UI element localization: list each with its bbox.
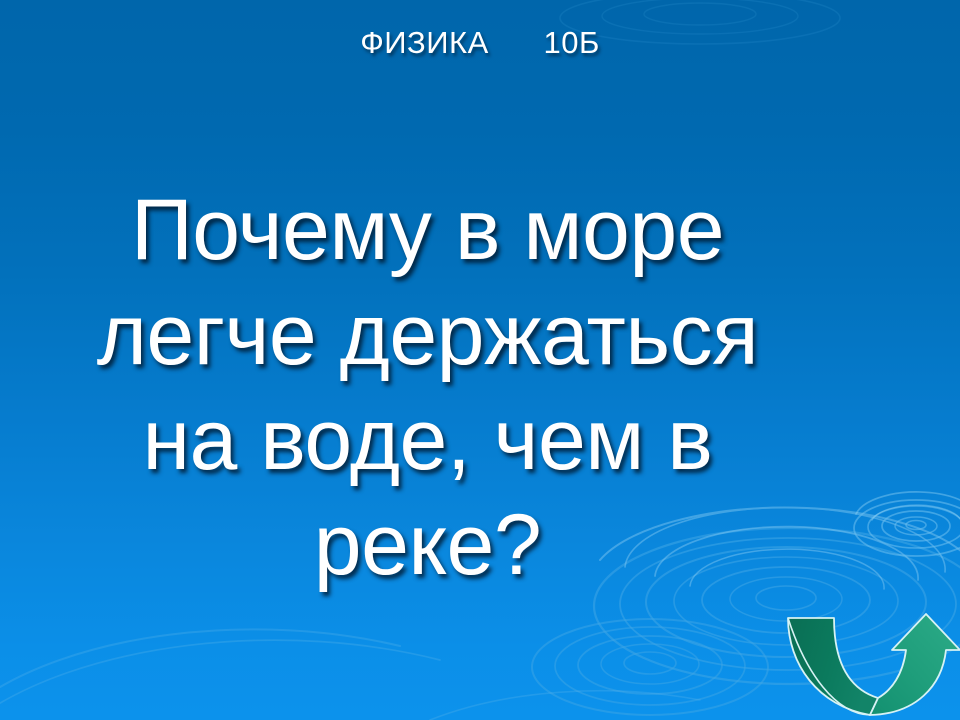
question-line-4: реке? xyxy=(40,493,815,598)
question-line-2: легче держаться xyxy=(40,283,815,388)
slide-canvas: ФИЗИКА 10Б Почему в море легче держаться… xyxy=(0,0,960,720)
slide-title: ФИЗИКА 10Б xyxy=(0,24,960,62)
question-line-1: Почему в море xyxy=(40,178,815,283)
question-text-block: Почему в море легче держаться на воде, ч… xyxy=(40,178,815,598)
curved-up-arrow-icon xyxy=(766,602,960,720)
question-line-3: на воде, чем в xyxy=(40,388,815,493)
